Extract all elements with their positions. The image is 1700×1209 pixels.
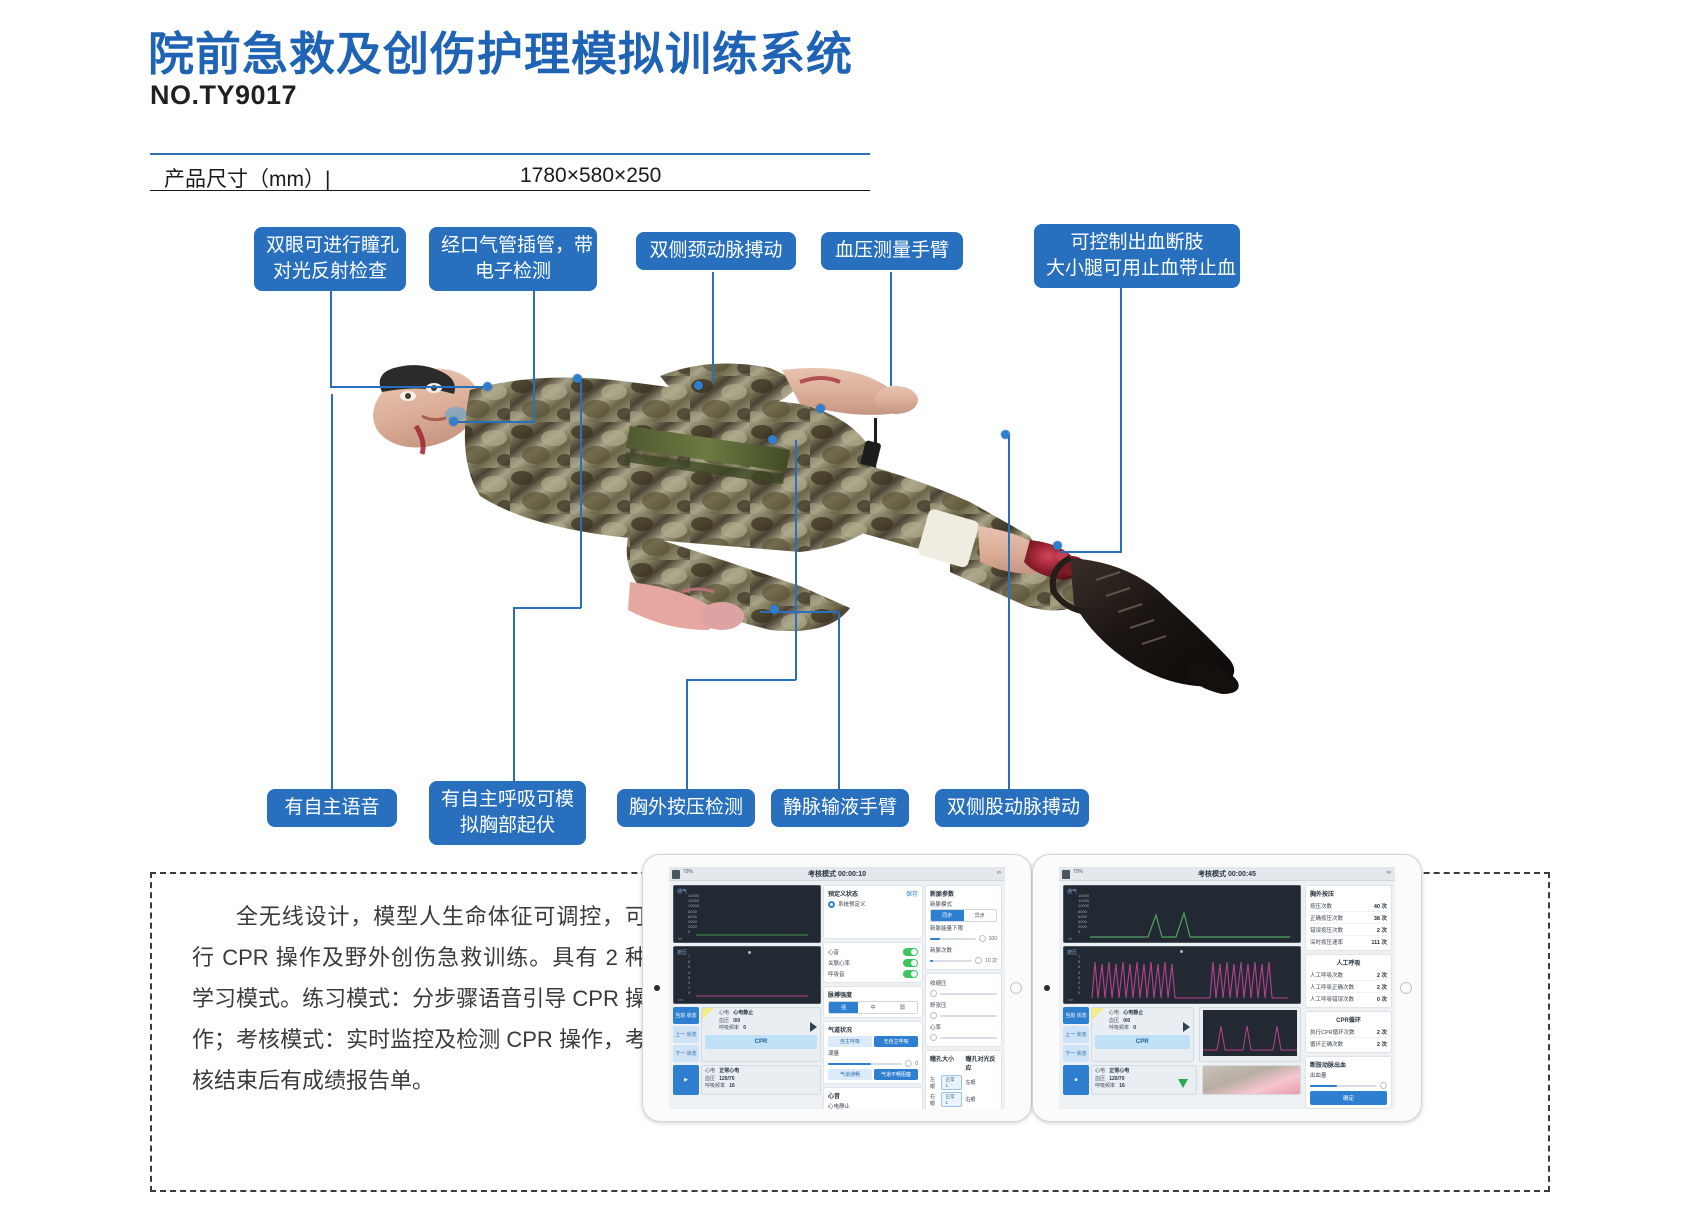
vital-key: 呼吸频率 — [719, 1025, 739, 1031]
vital-value: 0/0 — [733, 1018, 740, 1024]
stat-value: 2 次 — [1377, 983, 1387, 991]
leader-line — [1060, 551, 1122, 553]
state-button-current[interactable]: 当前 状态 — [1063, 1007, 1089, 1024]
anchor-dot — [770, 605, 779, 614]
play-state-button[interactable]: ■ — [1063, 1065, 1089, 1095]
vital-value: 0 — [1133, 1025, 1136, 1031]
leader-line — [686, 680, 688, 790]
stat-value: 2 次 — [1377, 971, 1387, 979]
anchor-dot — [449, 417, 458, 426]
pupil-side-label: 左眼 — [966, 1079, 976, 1086]
secondary-vitals: ▶ 心电 正常心电 血压 120/70 呼吸频率 — [673, 1065, 821, 1095]
vital-key: 呼吸频率 — [1095, 1083, 1115, 1089]
breath-sound-toggle[interactable] — [903, 970, 918, 978]
state-and-vitals: 当前 状态 上一 状态 下一 状态 心电 心电静止 血压 — [673, 1007, 821, 1062]
camera-dot — [1044, 985, 1050, 991]
slider-knob[interactable] — [975, 957, 982, 964]
vital-key: 血压 — [719, 1018, 729, 1024]
stat-key: 人工呼吸错误次数 — [1310, 995, 1354, 1003]
pupil-reaction-left[interactable]: 左眼 — [966, 1074, 998, 1091]
slider-track[interactable] — [930, 938, 976, 940]
callout-oral-intubation[interactable]: 经口气管插管，带 电子检测 — [430, 228, 596, 290]
defib-params-title: 新脈参数 — [930, 889, 997, 898]
stat-row: 按压次数 40 次 — [1310, 900, 1387, 912]
leader-line — [331, 394, 333, 790]
slider-track[interactable] — [940, 993, 997, 995]
stat-key: 循环正确次数 — [1310, 1040, 1343, 1048]
stat-value: 0 次 — [1377, 995, 1387, 1003]
leader-line — [1120, 284, 1122, 552]
spec-value: 1780×580×250 — [520, 164, 661, 188]
predefined-option-label: 系统预定义 — [838, 900, 866, 908]
slider-knob[interactable] — [905, 1060, 912, 1067]
defib-mode-async[interactable]: 异步 — [964, 910, 997, 921]
vital-value: 16 — [1119, 1083, 1125, 1089]
stat-key: 错误按压次数 — [1310, 926, 1343, 934]
anchor-dot — [573, 374, 582, 383]
defib-mode-segmented[interactable]: 同步 异步 — [930, 909, 997, 922]
switch-label: 呼吸音 — [828, 970, 845, 978]
right-parameter-column: 新脈参数 新脈模式 同步 异步 新脈能量下限 100 新脈次数 — [925, 885, 1002, 1106]
switch-row[interactable]: 心音 — [828, 946, 918, 957]
heart-sound-title: 心音 — [828, 1091, 918, 1100]
confirm-button[interactable]: 确定 — [1310, 1091, 1387, 1105]
slider-knob[interactable] — [930, 1034, 937, 1041]
wifi-icon: ∞ — [1387, 870, 1391, 876]
waveform-preview-box — [1199, 1007, 1302, 1062]
stat-key: 人工呼吸正确次数 — [1310, 983, 1354, 991]
leader-line — [712, 272, 714, 383]
session-title: 考核模式 00:00:45 — [1059, 869, 1395, 879]
slider-track[interactable] — [1310, 1085, 1377, 1087]
pupil-side-label: 左眼 — [930, 1076, 939, 1090]
cpr-cycle-card: CPR循环 执行CPR循环次数 2 次 循环正确次数 2 次 — [1305, 1011, 1392, 1053]
stat-row: 错误按压次数 2 次 — [1310, 924, 1387, 936]
vital-value: 正常心电 — [719, 1068, 739, 1074]
leader-line — [686, 679, 796, 681]
slider-knob[interactable] — [930, 1012, 937, 1019]
play-column: ■ — [1063, 1065, 1089, 1095]
pulse-strength-card: 脉搏强度 强 中 弱 — [823, 986, 923, 1018]
tablet-screen-1[interactable]: 79% 考核模式 00:00:10 ∞ 通气 14000120001000080… — [669, 867, 1005, 1109]
callout-pupil-light-reflex[interactable]: 双眼可进行瞳孔 对光反射检查 — [255, 228, 405, 290]
target-vitals-box: 心电 正常心电 血压 120/70 呼吸频率 16 — [1091, 1065, 1197, 1095]
leader-line — [838, 612, 840, 790]
breath-mode-segmented[interactable]: 自主呼吸 无自主呼吸 — [828, 1036, 918, 1047]
stat-key: 人工呼吸次数 — [1310, 971, 1343, 979]
limb-photo — [1203, 1066, 1301, 1094]
pupil-size-title: 瞳孔大小 — [930, 1054, 962, 1072]
callout-carotid-pulse[interactable]: 双侧颈动脉搏动 — [637, 233, 795, 269]
product-description: 全无线设计，模型人生命体征可调控，可行 CPR 操作及野外创伤急救训练。具有 2… — [192, 896, 647, 1101]
mannequin-photo — [330, 330, 1360, 750]
vital-row: 心电 正常心电 — [1095, 1068, 1193, 1076]
callout-spontaneous-voice[interactable]: 有自主语音 — [268, 790, 396, 826]
save-link[interactable]: 保存 — [906, 889, 918, 898]
callout-iv-infusion-arm[interactable]: 静脉输液手臂 — [772, 790, 908, 826]
limb-preview-box — [1202, 1065, 1302, 1095]
vital-key: 血压 — [1109, 1018, 1119, 1024]
airway-status-card: 气道状况 自主呼吸 无自主呼吸 潮量 0 气道通畅 气道不畅阻塞 — [823, 1021, 923, 1084]
leader-line — [890, 272, 892, 386]
defib-count-slider[interactable]: 10 次 — [930, 955, 997, 966]
pulse-strength-option-weak[interactable]: 弱 — [888, 1002, 917, 1013]
pupil-link-right[interactable]: 关联 — [966, 1108, 998, 1109]
chest-compression-title: 胸外按压 — [1310, 889, 1387, 898]
compression-graph-axis: 76543210 — [688, 954, 690, 996]
current-vitals-box: 心电 心电静止 血压 0/0 呼吸频率 0 CPR — [1091, 1007, 1194, 1062]
down-arrow-icon — [1178, 1079, 1188, 1088]
stat-key: 正确按压次数 — [1310, 914, 1343, 922]
airway-graph: 通气 14000120001000080006000400020000 ml — [673, 885, 821, 943]
breath-option-spontaneous[interactable]: 自主呼吸 — [828, 1036, 872, 1047]
warning-badge-icon — [1092, 1008, 1104, 1020]
secondary-vitals: ■ 心电 正常心电 血压 120/70 呼吸频率 — [1063, 1065, 1301, 1095]
vital-value: 正常心电 — [1109, 1068, 1129, 1074]
home-button[interactable] — [1010, 982, 1022, 994]
tidal-volume-label: 潮量 — [828, 1049, 918, 1057]
slider-knob[interactable] — [1380, 1082, 1387, 1089]
stat-key: 深时按压速率 — [1310, 938, 1343, 946]
pupil-link-row: 关联 关联 — [930, 1108, 997, 1109]
pupil-headers: 瞳孔大小 瞳孔对光反应 — [930, 1054, 997, 1074]
slider-track[interactable] — [930, 960, 972, 962]
systolic-slider[interactable] — [930, 988, 997, 999]
vital-key: 血压 — [705, 1076, 715, 1082]
switch-row[interactable]: 关联心率 — [828, 957, 918, 968]
vital-row: 血压 0/0 — [1109, 1018, 1190, 1026]
middle-control-column: 预定义状态 保存 系统预定义 心音 关联心率 — [823, 885, 923, 1106]
play-icon[interactable] — [1183, 1022, 1190, 1032]
spec-label: 产品尺寸（mm）| — [164, 163, 330, 193]
compression-graph: 按压 76543210 cm — [673, 946, 821, 1004]
slider-track[interactable] — [828, 1063, 902, 1065]
model-number: NO.TY9017 — [150, 80, 297, 111]
vital-row: 血压 120/70 — [705, 1076, 817, 1084]
vital-value: 16 — [729, 1083, 735, 1089]
left-monitor-column: 通气 14000120001000080006000400020000 ml 按… — [1063, 885, 1301, 1106]
session-title: 考核模式 00:00:10 — [669, 869, 1005, 879]
switch-label: 心音 — [828, 948, 839, 956]
state-button-prev[interactable]: 上一 状态 — [1063, 1026, 1089, 1043]
blood-flow-label: 出血量 — [1310, 1071, 1387, 1079]
switch-row[interactable]: 呼吸音 — [828, 968, 918, 979]
bleeding-control-card: 断肢动脉出血 出血量 确定 — [1305, 1056, 1392, 1109]
heartrate-label: 心率 — [930, 1023, 997, 1031]
defib-energy-label: 新脈能量下限 — [930, 924, 997, 932]
tablet-screen-2[interactable]: 79% 考核模式 00:00:45 ∞ 通气 14000120001000080… — [1059, 867, 1395, 1109]
radio-selected-icon[interactable] — [828, 901, 835, 908]
predefined-state-card: 预定义状态 保存 系统预定义 — [823, 885, 923, 939]
leader-line — [1008, 435, 1010, 790]
bleeding-control-title: 断肢动脉出血 — [1310, 1060, 1387, 1069]
vital-value: 心电静止 — [1123, 1010, 1143, 1016]
callout-chest-compression[interactable]: 胸外按压检测 — [618, 790, 754, 826]
stat-row: 人工呼吸正确次数 2 次 — [1310, 981, 1387, 993]
heart-sound-card: 心音 心电静止 心电静止 — [823, 1087, 923, 1109]
leader-line — [513, 608, 515, 782]
vital-row: 心电 正常心电 — [705, 1068, 817, 1076]
pulse-strength-option-strong[interactable]: 强 — [829, 1002, 858, 1013]
current-vitals-box: 心电 心电静止 血压 0/0 呼吸频率 0 CPR — [701, 1007, 821, 1062]
chest-compression-card: 胸外按压 按压次数 40 次 正确按压次数 38 次 错误按压次数 2 次 深 — [1305, 885, 1392, 951]
pulse-strength-title: 脉搏强度 — [828, 990, 918, 999]
vital-value: 心电静止 — [733, 1010, 753, 1016]
vital-row: 心电 心电静止 — [1109, 1010, 1190, 1018]
slider-track[interactable] — [940, 1015, 997, 1017]
stat-value: 2 次 — [1377, 1028, 1387, 1036]
stat-value: 38 次 — [1374, 914, 1387, 922]
pulse-strength-option-medium[interactable]: 中 — [858, 1002, 887, 1013]
switch-label: 关联心率 — [828, 959, 850, 967]
leader-line — [330, 386, 490, 388]
airway-graph-unit: ml — [1068, 936, 1072, 941]
defib-energy-slider[interactable]: 100 — [930, 933, 997, 944]
left-monitor-column: 通气 14000120001000080006000400020000 ml 按… — [673, 885, 821, 1106]
airway-graph-label: 通气 — [1067, 888, 1077, 895]
cpr-button[interactable]: CPR — [1095, 1035, 1190, 1049]
airway-option-obstructed[interactable]: 气道不畅阻塞 — [874, 1069, 918, 1080]
defib-count-label: 新脈次数 — [930, 946, 997, 954]
anchor-dot — [816, 404, 825, 413]
airway-graph: 通气 14000120001000080006000400020000 ml — [1063, 885, 1301, 943]
state-button-next[interactable]: 下一 状态 — [673, 1045, 699, 1062]
stat-row: 执行CPR循环次数 2 次 — [1310, 1026, 1387, 1038]
slider-knob[interactable] — [930, 990, 937, 997]
feature-summary-panel: 全无线设计，模型人生命体征可调控，可行 CPR 操作及野外创伤急救训练。具有 2… — [150, 872, 1550, 1192]
leader-line — [795, 440, 797, 680]
airway-patency-segmented[interactable]: 气道通畅 气道不畅阻塞 — [828, 1069, 918, 1080]
predefined-option-row[interactable]: 系统预定义 — [828, 900, 918, 908]
stat-key: 按压次数 — [1310, 902, 1332, 910]
stat-row: 人工呼吸错误次数 0 次 — [1310, 993, 1387, 1004]
leader-line — [455, 421, 535, 423]
play-state-button[interactable]: ▶ — [673, 1065, 699, 1095]
pupil-card: 瞳孔大小 瞳孔对光反应 左眼 正常 1 左眼 — [925, 1050, 1002, 1109]
stat-value: 2 次 — [1377, 1040, 1387, 1048]
leader-line — [533, 287, 535, 422]
predefined-state-title: 预定义状态 — [828, 892, 858, 898]
home-button[interactable] — [1400, 982, 1412, 994]
vital-sliders-card: 收缩压 舒张压 心率 — [925, 973, 1002, 1047]
stat-row: 人工呼吸次数 2 次 — [1310, 969, 1387, 981]
slider-knob[interactable] — [979, 935, 986, 942]
vital-row: 呼吸频率 0 — [1109, 1025, 1190, 1033]
vital-row: 血压 0/0 — [719, 1018, 817, 1026]
pupil-size-right[interactable]: 右眼 正常 1 — [930, 1091, 962, 1108]
airway-graph-axis: 14000120001000080006000400020000 — [1078, 893, 1089, 935]
status-bar: 79% 考核模式 00:00:10 ∞ — [669, 867, 1005, 881]
compression-graph-label: 按压 — [677, 949, 687, 956]
camera-dot — [654, 985, 660, 991]
vital-key: 呼吸频率 — [1109, 1025, 1129, 1031]
vital-row: 呼吸频率 0 — [719, 1025, 817, 1033]
compression-graph-unit: cm — [678, 997, 683, 1002]
spec-table: 产品尺寸（mm）| 1780×580×250 — [150, 153, 870, 191]
pupil-side-label: 右眼 — [930, 1093, 939, 1107]
vital-value: 0 — [743, 1025, 746, 1031]
heart-sound-toggle[interactable] — [903, 948, 918, 956]
cpr-button[interactable]: CPR — [705, 1035, 817, 1049]
ventilation-title: 人工呼吸 — [1310, 958, 1387, 967]
stat-value: 40 次 — [1374, 902, 1387, 910]
pulse-strength-segmented[interactable]: 强 中 弱 — [828, 1001, 918, 1014]
state-button-next[interactable]: 下一 状态 — [1063, 1045, 1089, 1062]
tidal-volume-value: 0 — [915, 1061, 918, 1067]
vital-row: 心电 心电静止 — [719, 1010, 817, 1018]
leader-line — [330, 287, 332, 387]
wifi-icon: ∞ — [997, 870, 1001, 876]
sound-switch-card: 心音 关联心率 呼吸音 — [823, 942, 923, 983]
stat-value: 2 次 — [1377, 926, 1387, 934]
airway-status-title: 气道状况 — [828, 1025, 918, 1034]
state-button-current[interactable]: 当前 状态 — [673, 1007, 699, 1024]
vital-key: 血压 — [1095, 1076, 1105, 1082]
play-icon[interactable] — [810, 1022, 817, 1032]
anchor-dot — [1053, 541, 1062, 550]
compression-graph-axis: 76543210 — [1078, 954, 1080, 996]
pupil-reaction-title: 瞳孔对光反应 — [966, 1054, 998, 1072]
blood-flow-slider[interactable] — [1310, 1080, 1387, 1091]
stat-row: 循环正确次数 2 次 — [1310, 1038, 1387, 1049]
defib-count-value: 10 次 — [985, 957, 997, 964]
compression-graph-label: 按压 — [1067, 949, 1077, 956]
page-title: 院前急救及创伤护理模拟训练系统 — [148, 18, 853, 84]
defib-params-card: 新脈参数 新脈模式 同步 异步 新脈能量下限 100 新脈次数 — [925, 885, 1002, 970]
state-button-column: 当前 状态 上一 状态 下一 状态 — [673, 1007, 699, 1062]
callout-femoral-pulse[interactable]: 双侧股动脉搏动 — [936, 790, 1088, 826]
vital-key: 心电 — [705, 1068, 715, 1074]
vital-key: 心电 — [719, 1010, 729, 1016]
defib-energy-value: 100 — [989, 936, 997, 942]
callout-spontaneous-breathing[interactable]: 有自主呼吸可模 拟胸部起伏 — [430, 782, 585, 844]
pupil-row: 右眼 正常 1 右眼 — [930, 1091, 997, 1108]
vital-row: 呼吸频率 16 — [705, 1083, 817, 1091]
leader-line — [513, 607, 581, 609]
tablet-assessment-mode[interactable]: 79% 考核模式 00:00:45 ∞ 通气 14000120001000080… — [1032, 854, 1422, 1122]
vital-key: 心电 — [1095, 1068, 1105, 1074]
warning-badge-icon — [702, 1008, 714, 1020]
vital-value: 120/70 — [1109, 1076, 1124, 1082]
heart-sound-value: 心电静止 — [828, 1102, 918, 1109]
assessment-report-column: 胸外按压 按压次数 40 次 正确按压次数 38 次 错误按压次数 2 次 深 — [1305, 885, 1392, 1106]
link-heartrate-toggle[interactable] — [903, 959, 918, 967]
anchor-dot — [483, 382, 492, 391]
state-button-prev[interactable]: 上一 状态 — [673, 1026, 699, 1043]
pupil-reaction-right[interactable]: 右眼 — [966, 1091, 998, 1108]
cpr-cycle-title: CPR循环 — [1310, 1015, 1387, 1024]
anchor-dot — [1001, 430, 1010, 439]
stat-row: 正确按压次数 38 次 — [1310, 912, 1387, 924]
vital-value: 0/0 — [1123, 1018, 1130, 1024]
play-column: ▶ — [673, 1065, 699, 1095]
pupil-size-value[interactable]: 正常 1 — [941, 1092, 961, 1107]
pupil-side-label: 右眼 — [966, 1096, 976, 1103]
compression-graph: 按压 76543210 cm — [1063, 946, 1301, 1004]
vital-key: 呼吸频率 — [705, 1083, 725, 1089]
tidal-volume-slider[interactable]: 0 — [828, 1058, 918, 1069]
compression-graph-unit: cm — [1068, 997, 1073, 1002]
stat-key: 执行CPR循环次数 — [1310, 1028, 1355, 1036]
card-header: 预定义状态 保存 — [828, 889, 918, 898]
vital-key: 心电 — [1109, 1010, 1119, 1016]
pupil-link-left[interactable]: 关联 — [930, 1108, 962, 1109]
airway-graph-unit: ml — [678, 936, 682, 941]
target-vitals-box: 心电 正常心电 血压 120/70 呼吸频率 16 — [701, 1065, 821, 1095]
anchor-dot — [768, 435, 777, 444]
slider-track[interactable] — [940, 1037, 997, 1039]
defib-mode-sync[interactable]: 同步 — [931, 910, 964, 921]
state-and-vitals: 当前 状态 上一 状态 下一 状态 心电 心电静止 血压 — [1063, 1007, 1301, 1062]
ventilation-card: 人工呼吸 人工呼吸次数 2 次 人工呼吸正确次数 2 次 人工呼吸错误次数 0 … — [1305, 954, 1392, 1008]
callout-bleeding-limb[interactable]: 可控制出血断肢 大小腿可用止血带止血 — [1035, 225, 1239, 287]
pupil-row: 左眼 正常 1 左眼 — [930, 1074, 997, 1091]
vital-value: 120/70 — [719, 1076, 734, 1082]
airway-graph-label: 通气 — [677, 888, 687, 895]
airway-option-clear[interactable]: 气道通畅 — [828, 1069, 872, 1080]
tablet-practice-mode[interactable]: 79% 考核模式 00:00:10 ∞ 通气 14000120001000080… — [642, 854, 1032, 1122]
stat-row: 深时按压速率 111 次 — [1310, 936, 1387, 947]
diastolic-slider[interactable] — [930, 1010, 997, 1021]
breath-option-none[interactable]: 无自主呼吸 — [874, 1036, 918, 1047]
state-button-column: 当前 状态 上一 状态 下一 状态 — [1063, 1007, 1089, 1062]
leader-line — [580, 380, 582, 608]
status-bar: 79% 考核模式 00:00:45 ∞ — [1059, 867, 1395, 881]
defib-mode-label: 新脈模式 — [930, 900, 997, 908]
stat-value: 111 次 — [1371, 938, 1387, 946]
anchor-dot — [694, 381, 703, 390]
pupil-size-left[interactable]: 左眼 正常 1 — [930, 1074, 962, 1091]
diastolic-label: 舒张压 — [930, 1001, 997, 1009]
pupil-size-value[interactable]: 正常 1 — [941, 1075, 961, 1090]
systolic-label: 收缩压 — [930, 979, 997, 987]
heartrate-slider[interactable] — [930, 1032, 997, 1043]
callout-bp-measure-arm[interactable]: 血压测量手臂 — [822, 233, 962, 269]
